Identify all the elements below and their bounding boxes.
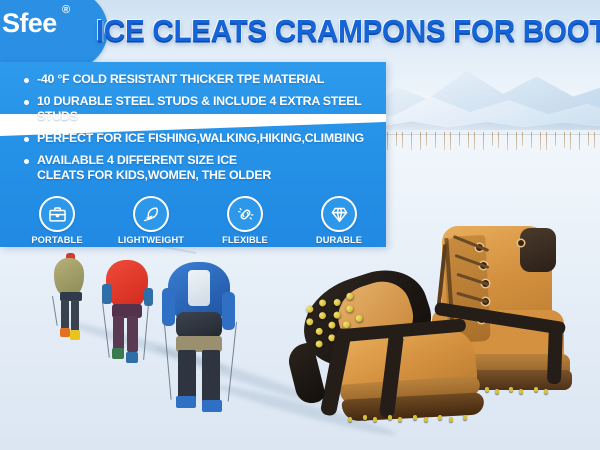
diamond-icon bbox=[321, 196, 357, 232]
badge-flexible: FLEXIBLE bbox=[203, 196, 287, 245]
badge-row: PORTABLE LIGHTWEIGHT FLEX bbox=[10, 196, 386, 245]
briefcase-icon bbox=[39, 196, 75, 232]
hiker-arm bbox=[222, 292, 235, 330]
badge-label: PORTABLE bbox=[31, 235, 82, 245]
header-bar: Sfee ® ICE CLEATS CRAMPONS FOR BOOTS bbox=[0, 0, 600, 58]
badge-label: LIGHTWEIGHT bbox=[118, 235, 184, 245]
hiker-leg bbox=[178, 350, 196, 400]
feature-text: 10 DURABLE STEEL STUDS & INCLUDE 4 EXTRA… bbox=[37, 94, 386, 124]
hiker-figure bbox=[48, 256, 94, 346]
hiker-arm bbox=[102, 284, 112, 304]
hiker-boot bbox=[176, 396, 196, 408]
backpack-panel bbox=[188, 270, 210, 306]
hiker-figure bbox=[158, 262, 248, 412]
hiker-leg bbox=[113, 316, 124, 350]
crampon-stud-row bbox=[348, 414, 474, 423]
hiker-boot bbox=[202, 400, 222, 412]
trekking-pole bbox=[52, 296, 58, 326]
hiker-boot bbox=[112, 348, 124, 359]
hiker-leg bbox=[127, 316, 138, 352]
bullet-dot-icon bbox=[24, 137, 29, 142]
brand-logo-badge: Sfee ® bbox=[0, 0, 108, 70]
hiker-figure bbox=[100, 260, 160, 370]
product-ad-banner: Sfee ® ICE CLEATS CRAMPONS FOR BOOTS -40… bbox=[0, 0, 600, 450]
hiker-arm bbox=[162, 288, 175, 326]
hiker-leg bbox=[202, 350, 220, 402]
list-item: AVAILABLE 4 DIFFERENT SIZE ICE CLEATS FO… bbox=[14, 153, 386, 183]
backpack-pouch bbox=[176, 312, 222, 338]
hiker-boot bbox=[70, 330, 80, 340]
list-item: PERFECT FOR ICE FISHING,WALKING,HIKING,C… bbox=[14, 131, 386, 146]
trekking-pole bbox=[228, 322, 238, 402]
hiker-leg bbox=[61, 300, 69, 330]
hiker-boot bbox=[60, 328, 70, 337]
boot-tilted bbox=[292, 258, 470, 438]
trekking-pole bbox=[143, 304, 149, 360]
feather-icon bbox=[133, 196, 169, 232]
list-item: -40 °F COLD RESISTANT THICKER TPE MATERI… bbox=[14, 72, 386, 87]
feature-text: PERFECT FOR ICE FISHING,WALKING,HIKING,C… bbox=[37, 131, 364, 146]
badge-label: DURABLE bbox=[316, 235, 362, 245]
feature-text: AVAILABLE 4 DIFFERENT SIZE ICE CLEATS FO… bbox=[37, 153, 287, 183]
boot-collar-pad bbox=[520, 228, 556, 272]
feature-text: -40 °F COLD RESISTANT THICKER TPE MATERI… bbox=[37, 72, 324, 87]
badge-lightweight: LIGHTWEIGHT bbox=[109, 196, 193, 245]
badge-portable: PORTABLE bbox=[15, 196, 99, 245]
list-item: 10 DURABLE STEEL STUDS & INCLUDE 4 EXTRA… bbox=[14, 94, 386, 124]
backpack bbox=[106, 260, 148, 308]
bullet-dot-icon bbox=[24, 78, 29, 83]
badge-durable: DURABLE bbox=[297, 196, 381, 245]
product-boots-with-cleats bbox=[300, 218, 600, 450]
backpack bbox=[54, 258, 84, 296]
badge-label: FLEXIBLE bbox=[222, 235, 268, 245]
trekking-pole bbox=[102, 302, 110, 358]
page-title: ICE CLEATS CRAMPONS FOR BOOTS bbox=[96, 8, 576, 54]
bullet-dot-icon bbox=[24, 100, 29, 105]
hiker-leg bbox=[71, 300, 79, 332]
brand-name: Sfee bbox=[2, 8, 57, 39]
trekking-pole bbox=[164, 324, 172, 400]
boot-eyelet bbox=[518, 240, 524, 246]
chain-link-icon bbox=[227, 196, 263, 232]
crampon-heel-strap bbox=[547, 322, 563, 384]
feature-list: -40 °F COLD RESISTANT THICKER TPE MATERI… bbox=[14, 72, 386, 190]
bullet-dot-icon bbox=[24, 159, 29, 164]
hiker-boot bbox=[126, 352, 138, 363]
registered-trademark-icon: ® bbox=[62, 4, 70, 16]
